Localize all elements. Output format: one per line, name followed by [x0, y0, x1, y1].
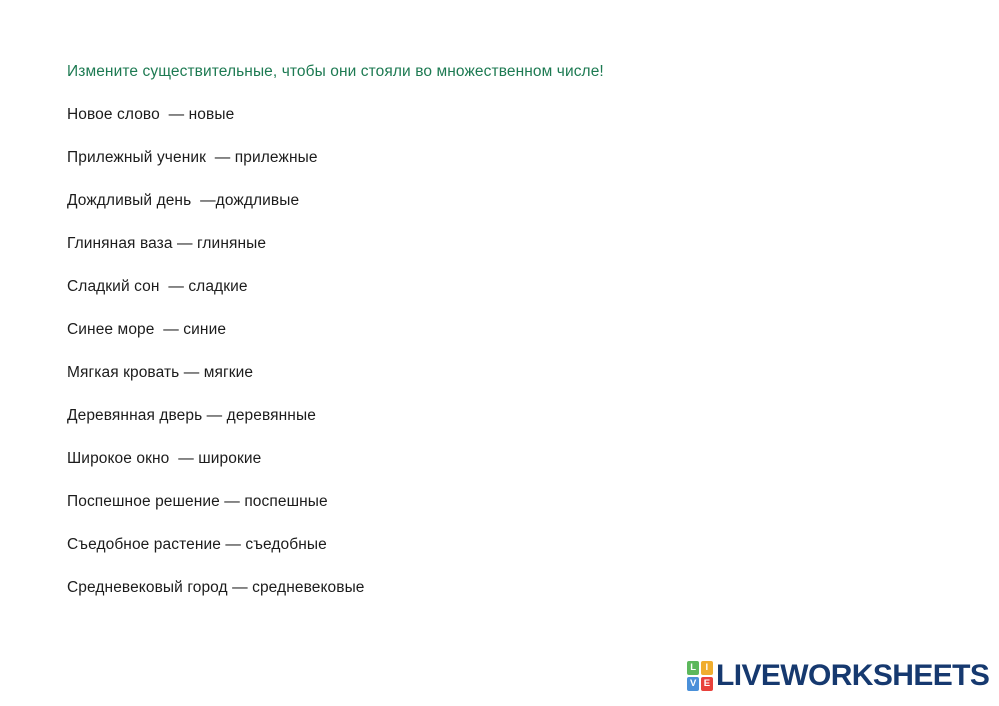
worksheet-page: Измените существительные, чтобы они стоя…: [0, 0, 999, 706]
liveworksheets-logo: L I V E LIVEWORKSHEETS: [687, 661, 989, 691]
list-item: Прилежный ученик — прилежные: [67, 148, 947, 168]
list-item: Деревянная дверь — деревянные: [67, 406, 947, 426]
instruction-text: Измените существительные, чтобы они стоя…: [67, 62, 947, 82]
list-item: Поспешное решение — поспешные: [67, 492, 947, 512]
worksheet-content: Измените существительные, чтобы они стоя…: [67, 62, 947, 598]
exercise-list: Новое слово — новые Прилежный ученик — п…: [67, 105, 947, 598]
logo-tile-i: I: [701, 661, 713, 675]
list-item: Глиняная ваза — глиняные: [67, 234, 947, 254]
logo-tile-l: L: [687, 661, 699, 675]
list-item: Съедобное растение — съедобные: [67, 535, 947, 555]
list-item: Широкое окно — широкие: [67, 449, 947, 469]
list-item: Новое слово — новые: [67, 105, 947, 125]
list-item: Мягкая кровать — мягкие: [67, 363, 947, 383]
live-tiles-icon: L I V E: [687, 661, 713, 691]
list-item: Синее море — синие: [67, 320, 947, 340]
list-item: Средневековый город — средневековые: [67, 578, 947, 598]
logo-tile-v: V: [687, 677, 699, 691]
list-item: Дождливый день —дождливые: [67, 191, 947, 211]
logo-wordmark: LIVEWORKSHEETS: [716, 661, 989, 691]
logo-tile-e: E: [701, 677, 713, 691]
list-item: Сладкий сон — сладкие: [67, 277, 947, 297]
